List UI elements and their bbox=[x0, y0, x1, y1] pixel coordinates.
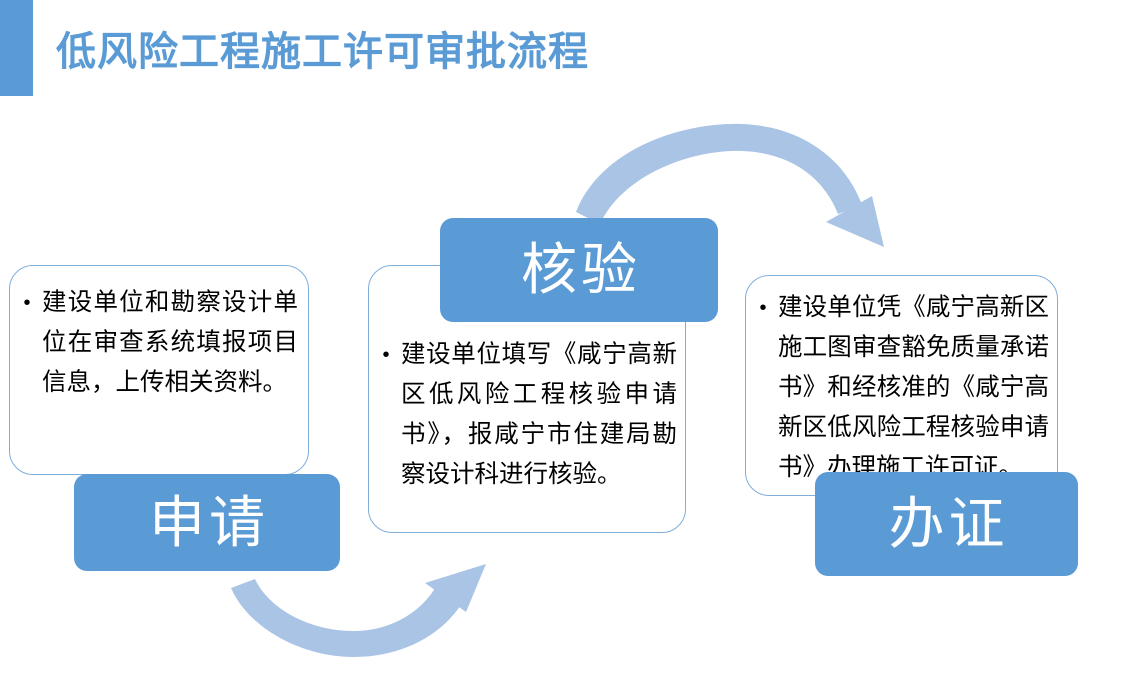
step-apply-body: 建设单位和勘察设计单位在审查系统填报项目信息，上传相关资料。 bbox=[42, 283, 298, 403]
page-title: 低风险工程施工许可审批流程 bbox=[56, 24, 856, 84]
stage-label-apply: 申请 bbox=[74, 474, 340, 571]
stage-label-license: 办证 bbox=[815, 472, 1078, 576]
step-card-license: • 建设单位凭《咸宁高新区施工图审查豁免质量承诺书》和经核准的《咸宁高新区低风险… bbox=[745, 275, 1058, 496]
bullet-row: • 建设单位和勘察设计单位在审查系统填报项目信息，上传相关资料。 bbox=[20, 283, 298, 403]
bullet-icon: • bbox=[20, 283, 34, 323]
step-card-apply: • 建设单位和勘察设计单位在审查系统填报项目信息，上传相关资料。 bbox=[9, 265, 309, 475]
title-accent-bar bbox=[0, 0, 33, 96]
step-license-body: 建设单位凭《咸宁高新区施工图审查豁免质量承诺书》和经核准的《咸宁高新区低风险工程… bbox=[778, 288, 1049, 488]
bullet-row: • 建设单位凭《咸宁高新区施工图审查豁免质量承诺书》和经核准的《咸宁高新区低风险… bbox=[756, 288, 1049, 488]
bullet-icon: • bbox=[756, 288, 770, 328]
bullet-row: • 建设单位填写《咸宁高新区低风险工程核验申请书》，报咸宁市住建局勘察设计科进行… bbox=[379, 335, 677, 495]
arrow-apply-to-verify-icon bbox=[231, 564, 486, 657]
slide-canvas: 低风险工程施工许可审批流程 • 建设单位和勘察设计单位在审查系统填报项目信息，上… bbox=[0, 0, 1138, 689]
step-verify-body: 建设单位填写《咸宁高新区低风险工程核验申请书》，报咸宁市住建局勘察设计科进行核验… bbox=[401, 335, 677, 495]
bullet-icon: • bbox=[379, 335, 393, 375]
stage-label-verify: 核验 bbox=[440, 218, 718, 322]
